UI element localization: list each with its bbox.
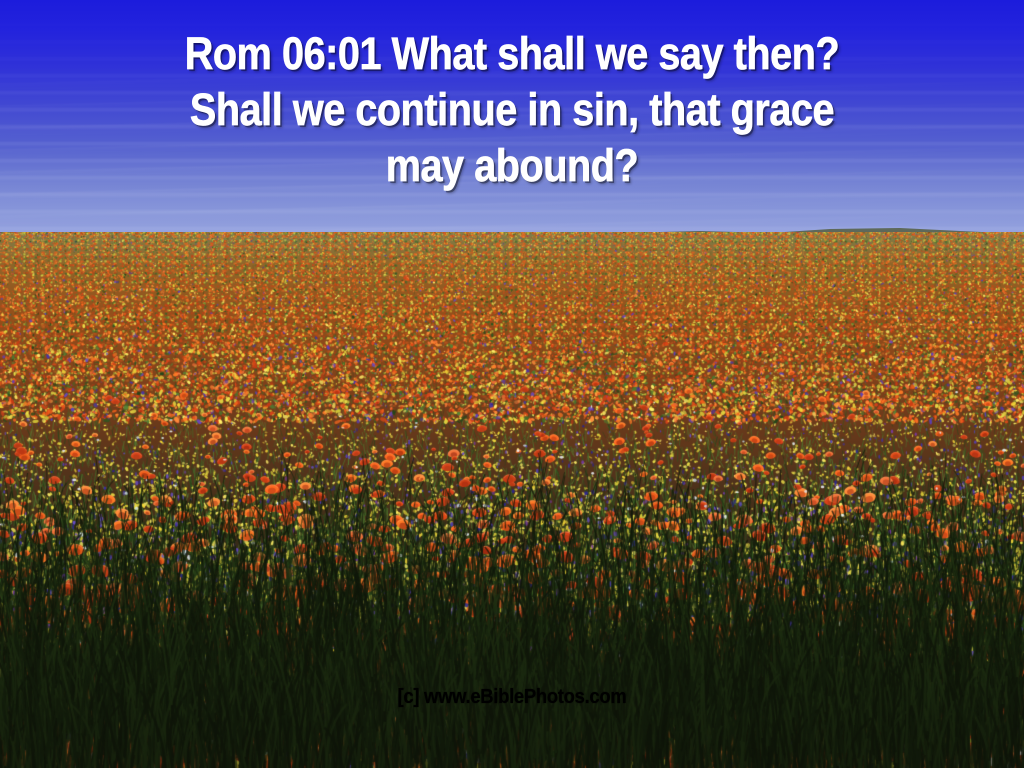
wildflower-field <box>0 232 1024 768</box>
flower-texture-canvas <box>0 232 1024 768</box>
scripture-photo: Rom 06:01 What shall we say then? Shall … <box>0 0 1024 768</box>
